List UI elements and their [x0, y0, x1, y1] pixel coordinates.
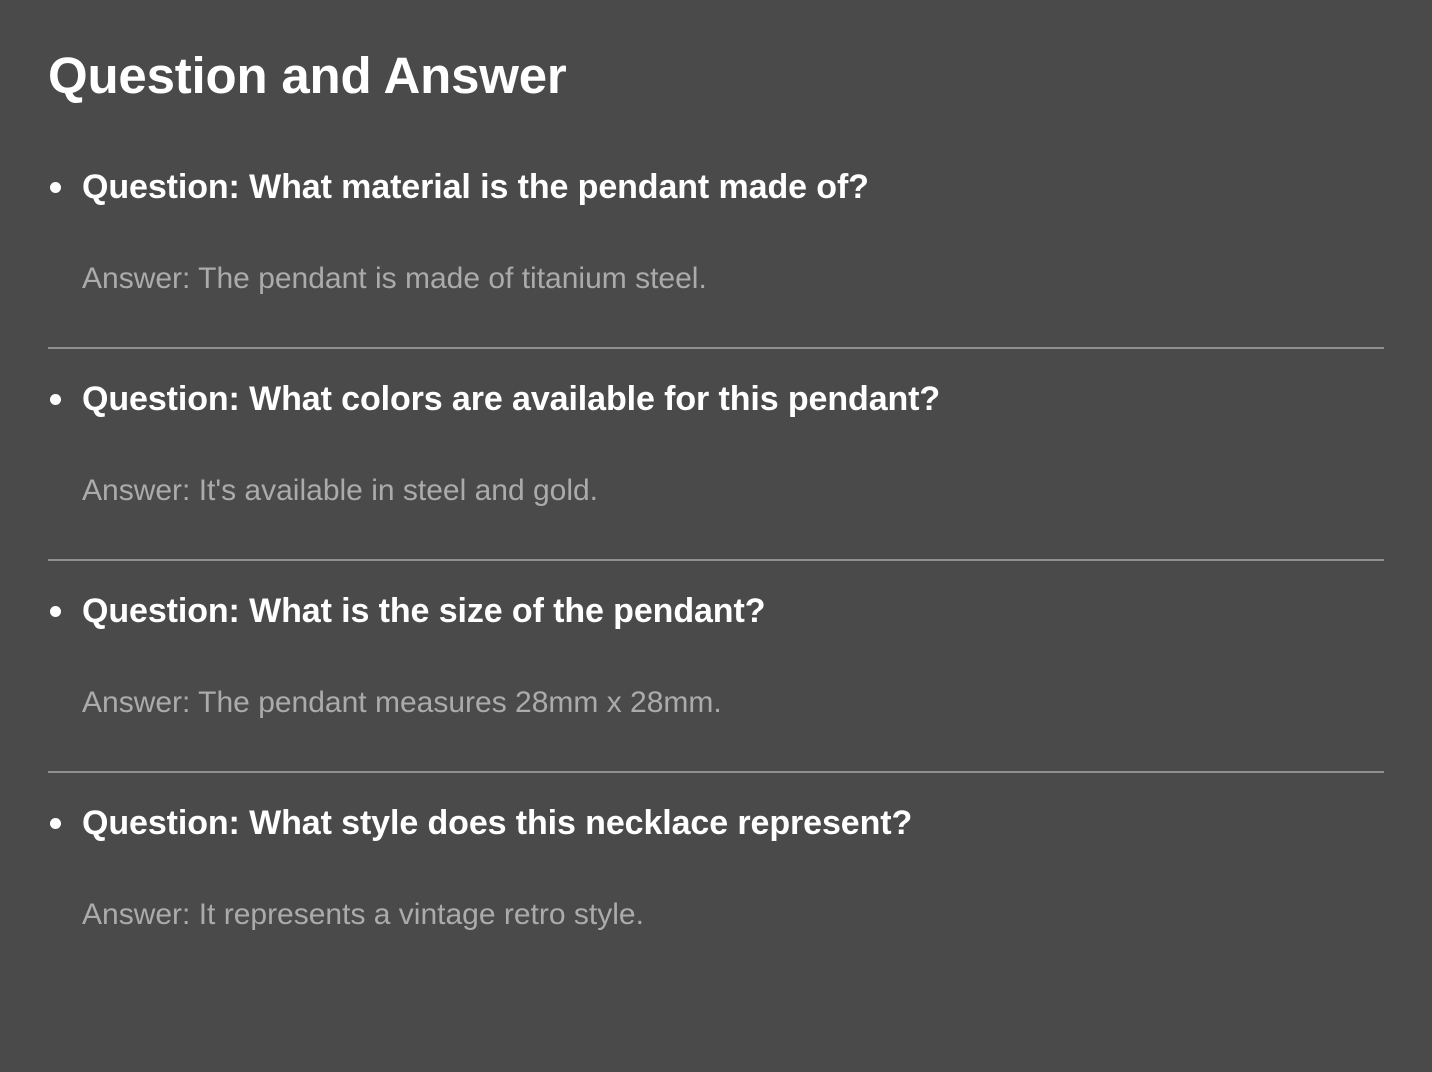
qa-answer: Answer: It's available in steel and gold…: [48, 472, 1384, 536]
page-title: Question and Answer: [48, 48, 1384, 104]
list-item: Question: What colors are available for …: [48, 347, 1384, 535]
qa-question: Question: What colors are available for …: [48, 378, 1384, 421]
bullet-dot-icon: [50, 606, 61, 617]
qa-question-text: Question: What material is the pendant m…: [82, 168, 869, 206]
list-item: Question: What is the size of the pendan…: [48, 559, 1384, 747]
qa-question: Question: What material is the pendant m…: [48, 166, 1384, 209]
list-item: Question: What style does this necklace …: [48, 771, 1384, 959]
qa-question-text: Question: What colors are available for …: [82, 380, 940, 418]
qa-question-text: Question: What is the size of the pendan…: [82, 592, 765, 630]
question-and-answer-panel: Question and Answer Question: What mater…: [0, 0, 1432, 1072]
qa-question: Question: What is the size of the pendan…: [48, 590, 1384, 633]
bullet-dot-icon: [50, 818, 61, 829]
qa-answer: Answer: It represents a vintage retro st…: [48, 896, 1384, 960]
qa-list: Question: What material is the pendant m…: [48, 166, 1384, 959]
bullet-dot-icon: [50, 182, 61, 193]
bullet-dot-icon: [50, 394, 61, 405]
list-item: Question: What material is the pendant m…: [48, 166, 1384, 323]
qa-answer: Answer: The pendant measures 28mm x 28mm…: [48, 684, 1384, 748]
qa-question-text: Question: What style does this necklace …: [82, 804, 912, 842]
qa-question: Question: What style does this necklace …: [48, 802, 1384, 845]
qa-answer: Answer: The pendant is made of titanium …: [48, 260, 1384, 324]
